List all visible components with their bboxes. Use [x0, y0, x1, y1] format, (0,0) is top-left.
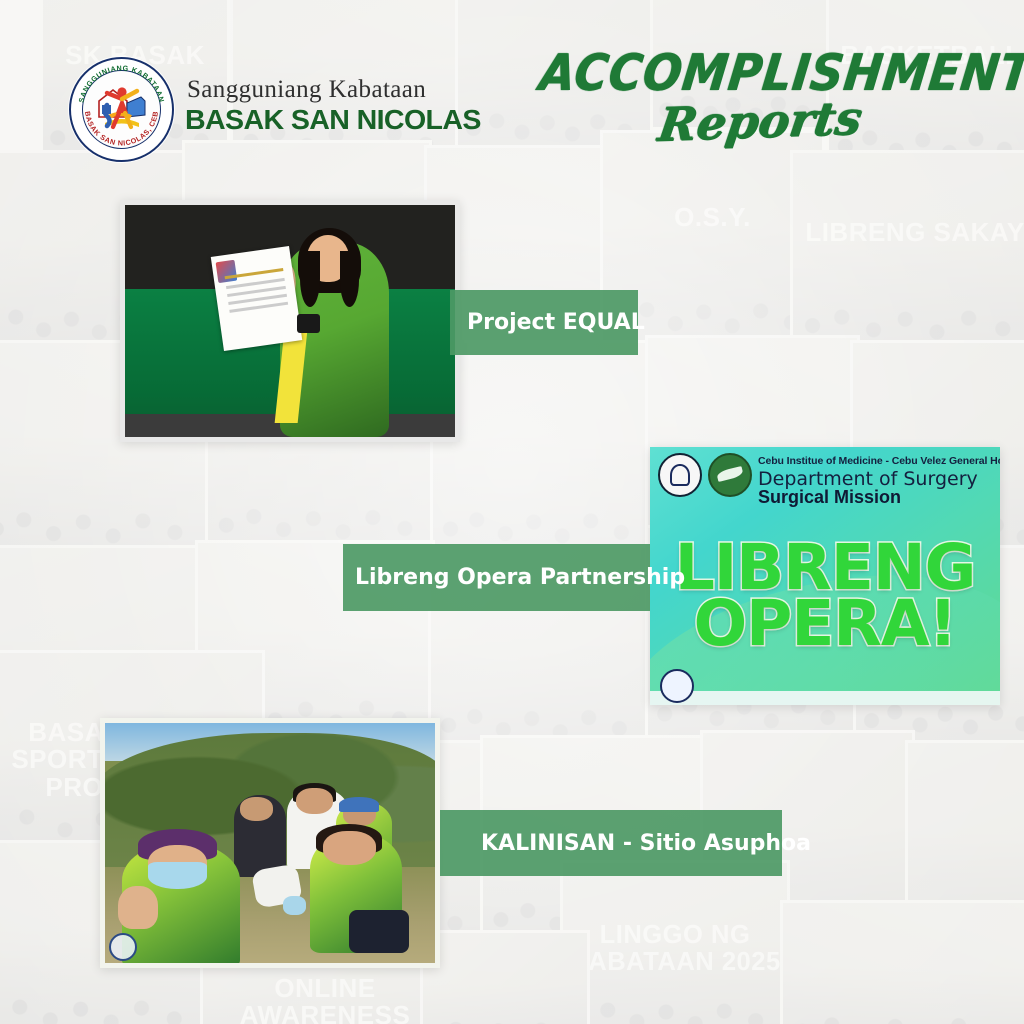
label-project-equal-text: Project EQUAL	[450, 310, 645, 335]
background-collage-tile	[430, 340, 655, 555]
accomplishments-report-poster: SK BASAKBASKETBALLBASAKAMONGO.S.Y.LIBREN…	[0, 0, 1024, 1024]
sk-barangay-seal-icon: SANGGUNIANG KABATAAN BRGY. BASAK SAN NIC…	[69, 57, 174, 162]
background-collage-tile	[420, 930, 590, 1024]
background-collage-tile	[780, 900, 1024, 1024]
barangay-name: BASAK SAN NICOLAS	[185, 104, 481, 136]
label-libreng-opera: Libreng Opera Partnership	[343, 544, 650, 611]
poster-bottom-seal-icon	[660, 669, 694, 703]
label-project-equal: Project EQUAL	[450, 290, 638, 355]
poster-mission-line: Surgical Mission	[758, 487, 901, 508]
background-collage-tile-text: ONLINE AWARENESS SYMPOSIUM	[203, 975, 447, 1024]
background-collage-tile: LIBRENG SAKAY	[790, 150, 1024, 350]
background-collage-tile: LINGGO NG KABATAAN 2025	[560, 860, 790, 1024]
poster-headline-2: OPERA!	[650, 587, 1000, 660]
photo-project-equal	[120, 200, 460, 442]
background-collage-tile-text: LINGGO NG KABATAAN 2025	[563, 922, 787, 976]
label-libreng-opera-text: Libreng Opera Partnership	[343, 565, 685, 590]
label-kalinisan-text: KALINISAN - Sitio Asuphoa	[440, 831, 811, 856]
photo-kalinisan-cleanup	[100, 718, 440, 968]
department-of-surgery-logo-icon	[708, 453, 752, 497]
poster-hospital-line: Cebu Institue of Medicine - Cebu Velez G…	[758, 455, 994, 467]
organization-name: Sangguniang Kabataan	[187, 76, 426, 104]
photo-libreng-opera-poster: Cebu Institue of Medicine - Cebu Velez G…	[650, 447, 1000, 705]
photo-watermark-icon	[109, 933, 137, 961]
cim-logo-icon	[658, 453, 702, 497]
label-kalinisan: KALINISAN - Sitio Asuphoa	[440, 810, 782, 876]
background-collage-tile-text: LIBRENG SAKAY	[793, 219, 1024, 246]
